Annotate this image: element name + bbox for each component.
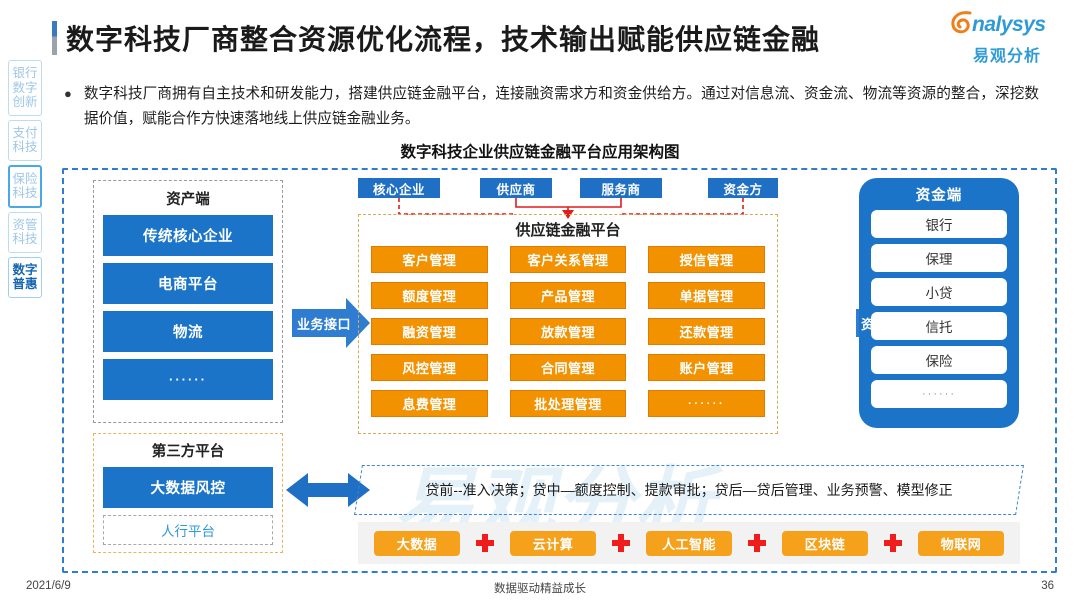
loan-lifecycle-box: 贷前--准入决策；贷中—额度控制、提款审批；贷后—贷后管理、业务预警、模型修正 [354, 465, 1024, 515]
module-loan-disbursement[interactable]: 放款管理 [510, 318, 627, 345]
sidebar-item-label: 资管科技 [11, 218, 39, 247]
third-party-pboc-platform[interactable]: 人行平台 [103, 515, 273, 545]
fund-row-more[interactable]: ······ [871, 380, 1007, 408]
asset-side-title: 资产端 [103, 188, 273, 209]
vertical-sidebar: 银行数字创新 支付科技 保险科技 资管科技 数字普惠 [8, 60, 44, 302]
tech-blockchain[interactable]: 区块链 [782, 531, 868, 556]
module-financing-mgmt[interactable]: 融资管理 [371, 318, 488, 345]
loan-lifecycle-text: 贷前--准入决策；贷中—额度控制、提款审批；贷后—贷后管理、业务预警、模型修正 [359, 466, 1019, 514]
tag-funder[interactable]: 资金方 [708, 178, 778, 198]
asset-row-more[interactable]: ······ [103, 359, 273, 400]
logo-text: nalysys [972, 13, 1046, 37]
tech-stack-bar: 大数据 云计算 人工智能 区块链 物联网 [358, 522, 1020, 564]
sidebar-item-label: 银行数字创新 [11, 66, 39, 110]
tech-iot[interactable]: 物联网 [918, 531, 1004, 556]
bullet-paragraph: ● 数字科技厂商拥有自主技术和研发能力，搭建供应链金融平台，连接融资需求方和资金… [64, 82, 1039, 132]
tag-supplier[interactable]: 供应商 [480, 178, 552, 198]
fund-row-microloan[interactable]: 小贷 [871, 278, 1007, 306]
sidebar-item-label: 保险科技 [12, 172, 38, 201]
tech-bigdata[interactable]: 大数据 [374, 531, 460, 556]
asset-row-ecommerce[interactable]: 电商平台 [103, 263, 273, 304]
asset-row-core-enterprise[interactable]: 传统核心企业 [103, 215, 273, 256]
page-title: 数字科技厂商整合资源优化流程，技术输出赋能供应链金融 [66, 18, 820, 58]
participant-tags: 核心企业 供应商 服务商 资金方 [358, 178, 778, 214]
fund-row-factoring[interactable]: 保理 [871, 244, 1007, 272]
third-party-box: 第三方平台 大数据风控 人行平台 [93, 433, 283, 553]
module-crm[interactable]: 客户关系管理 [510, 246, 627, 273]
module-credit-mgmt[interactable]: 授信管理 [648, 246, 765, 273]
footer-slogan: 数据驱动精益成长 [0, 580, 1080, 596]
diagram-subtitle: 数字科技企业供应链金融平台应用架构图 [0, 140, 1080, 162]
architecture-diagram: 易观分析 资产端 传统核心企业 电商平台 物流 ······ 第三方平台 大数据… [62, 168, 1057, 573]
tag-core-enterprise[interactable]: 核心企业 [358, 178, 440, 198]
supply-chain-platform-box: 供应链金融平台 客户管理 客户关系管理 授信管理 额度管理 产品管理 单据管理 … [358, 214, 778, 434]
fund-row-insurance[interactable]: 保险 [871, 346, 1007, 374]
module-product-mgmt[interactable]: 产品管理 [510, 282, 627, 309]
module-document-mgmt[interactable]: 单据管理 [648, 282, 765, 309]
module-quota-mgmt[interactable]: 额度管理 [371, 282, 488, 309]
module-account-mgmt[interactable]: 账户管理 [648, 354, 765, 381]
fund-side-box: 资金端 银行 保理 小贷 信托 保险 ······ [859, 178, 1019, 428]
fund-docking-label: 资金对接 [861, 314, 915, 333]
bullet-marker: ● [64, 82, 72, 132]
asset-row-logistics[interactable]: 物流 [103, 311, 273, 352]
module-contract-mgmt[interactable]: 合同管理 [510, 354, 627, 381]
platform-module-grid: 客户管理 客户关系管理 授信管理 额度管理 产品管理 单据管理 融资管理 放款管… [371, 246, 765, 417]
module-batch-processing[interactable]: 批处理管理 [510, 390, 627, 417]
sidebar-item-label: 数字普惠 [11, 263, 39, 292]
logo-wordmark: nalysys [948, 12, 1066, 40]
sidebar-item-bank[interactable]: 银行数字创新 [8, 60, 42, 116]
plus-icon [612, 534, 630, 552]
title-accent-bar [52, 21, 57, 55]
plus-icon [476, 534, 494, 552]
module-more[interactable]: ······ [648, 390, 765, 417]
sidebar-item-inclusive-finance[interactable]: 数字普惠 [8, 257, 42, 298]
sidebar-item-insurance[interactable]: 保险科技 [8, 165, 42, 208]
tech-ai[interactable]: 人工智能 [646, 531, 732, 556]
plus-icon [884, 534, 902, 552]
business-interface-label: 业务接口 [297, 314, 351, 333]
module-interest-fee-mgmt[interactable]: 息费管理 [371, 390, 488, 417]
platform-title: 供应链金融平台 [371, 219, 765, 240]
analysys-logo: nalysys 易观分析 [948, 12, 1066, 64]
third-party-bigdata-risk[interactable]: 大数据风控 [103, 467, 273, 508]
asset-side-box: 资产端 传统核心企业 电商平台 物流 ······ [93, 180, 283, 423]
tag-service-provider[interactable]: 服务商 [580, 178, 662, 198]
sidebar-item-asset-mgmt[interactable]: 资管科技 [8, 212, 42, 253]
tech-cloud[interactable]: 云计算 [510, 531, 596, 556]
plus-icon [748, 534, 766, 552]
slide-page: 数字科技厂商整合资源优化流程，技术输出赋能供应链金融 nalysys 易观分析 … [0, 0, 1080, 608]
third-party-title: 第三方平台 [103, 440, 273, 461]
fund-row-bank[interactable]: 银行 [871, 210, 1007, 238]
footer-page-number: 36 [1041, 580, 1054, 592]
fund-side-title: 资金端 [871, 184, 1007, 205]
module-customer-mgmt[interactable]: 客户管理 [371, 246, 488, 273]
module-risk-control[interactable]: 风控管理 [371, 354, 488, 381]
logo-cn-text: 易观分析 [948, 42, 1066, 66]
module-repayment-mgmt[interactable]: 还款管理 [648, 318, 765, 345]
bullet-text: 数字科技厂商拥有自主技术和研发能力，搭建供应链金融平台，连接融资需求方和资金供给… [84, 82, 1039, 132]
slide-header: 数字科技厂商整合资源优化流程，技术输出赋能供应链金融 nalysys 易观分析 [0, 0, 1080, 72]
slide-footer: 2021/6/9 数据驱动精益成长 36 [0, 580, 1080, 600]
